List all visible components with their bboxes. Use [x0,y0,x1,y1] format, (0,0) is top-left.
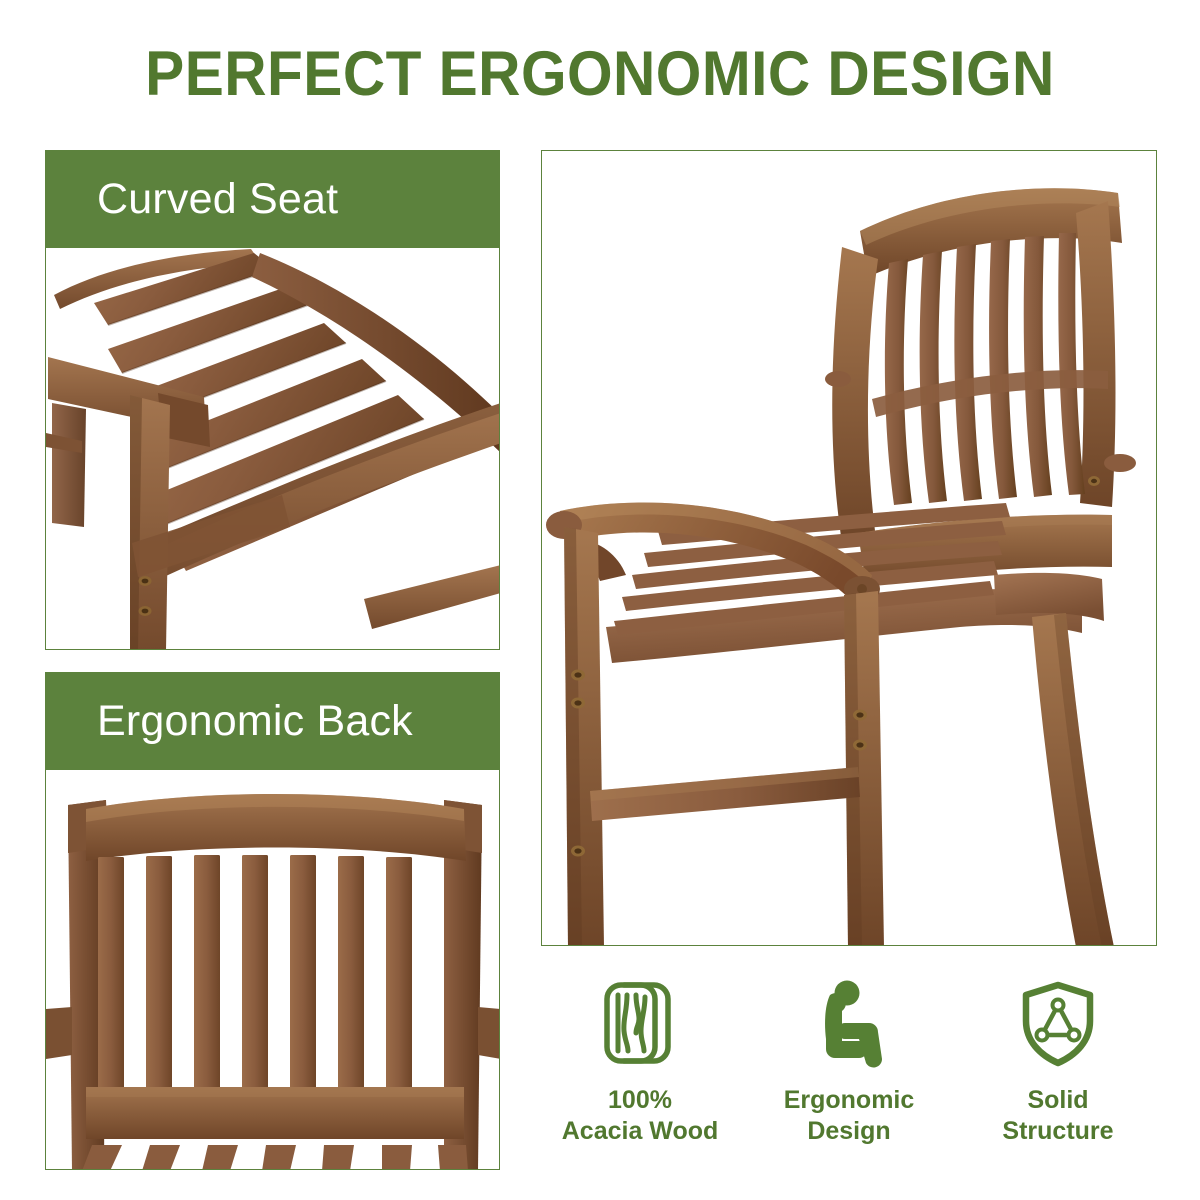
banner-ergonomic-back: Ergonomic Back [45,672,500,770]
main-chair-photo [542,151,1157,946]
page-title: PERFECT ERGONOMIC DESIGN [42,38,1158,110]
banner-label-ergonomic-back: Ergonomic Back [97,697,413,746]
feature-solid-structure: Solid Structure [959,975,1157,1146]
feature-label-acacia-wood: 100% Acacia Wood [562,1085,719,1146]
infographic-page: PERFECT ERGONOMIC DESIGN [0,0,1200,1200]
shield-structure-icon [1012,975,1104,1071]
feature-ergonomic-design: Ergonomic Design [750,975,948,1146]
banner-label-curved-seat: Curved Seat [97,175,338,224]
curved-seat-photo [46,247,500,650]
feature-acacia-wood: 100% Acacia Wood [541,975,739,1146]
wood-grain-icon [594,975,686,1071]
seated-person-icon [803,975,895,1071]
ergonomic-back-photo [46,769,500,1170]
feature-label-solid-structure: Solid Structure [1002,1085,1113,1146]
banner-curved-seat: Curved Seat [45,150,500,248]
feature-row: 100% Acacia Wood Ergonomic Design [541,975,1157,1170]
panel-main-chair [541,150,1157,946]
feature-label-ergonomic-design: Ergonomic Design [784,1085,915,1146]
